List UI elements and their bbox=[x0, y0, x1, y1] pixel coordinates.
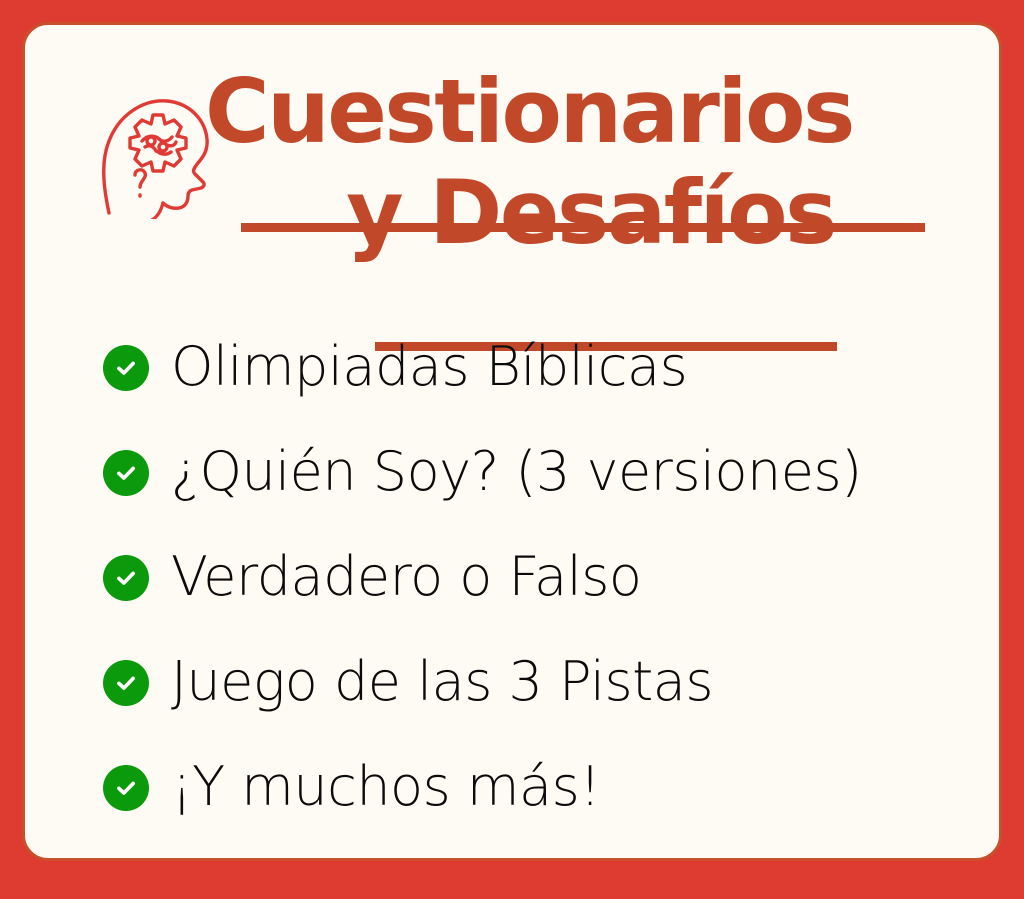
check-circle-icon bbox=[103, 765, 149, 811]
list-item: Verdadero o Falso bbox=[103, 525, 983, 630]
check-circle-icon bbox=[103, 345, 149, 391]
feature-list: Olimpiadas Bíblicas ¿Quién Soy? (3 versi… bbox=[103, 315, 983, 840]
title-underline-1 bbox=[241, 223, 925, 232]
card-header: Cuestionarios y Desafíos bbox=[25, 65, 999, 315]
check-circle-icon bbox=[103, 450, 149, 496]
feature-label: ¿Quién Soy? (3 versiones) bbox=[171, 444, 862, 501]
check-circle-icon bbox=[103, 555, 149, 601]
list-item: Juego de las 3 Pistas bbox=[103, 630, 983, 735]
list-item: ¿Quién Soy? (3 versiones) bbox=[103, 420, 983, 525]
list-item: ¡Y muchos más! bbox=[103, 735, 983, 840]
title-line-2: y Desafíos bbox=[195, 166, 895, 259]
title-line-1: Cuestionarios bbox=[195, 65, 895, 158]
promo-card-frame: Cuestionarios y Desafíos Olimpiadas Bíbl… bbox=[0, 0, 1024, 899]
feature-label: Verdadero o Falso bbox=[171, 549, 641, 606]
promo-card-panel: Cuestionarios y Desafíos Olimpiadas Bíbl… bbox=[22, 22, 1002, 861]
check-circle-icon bbox=[103, 660, 149, 706]
feature-label: Juego de las 3 Pistas bbox=[171, 654, 713, 711]
list-item: Olimpiadas Bíblicas bbox=[103, 315, 983, 420]
feature-label: Olimpiadas Bíblicas bbox=[171, 339, 687, 396]
feature-label: ¡Y muchos más! bbox=[171, 759, 600, 816]
